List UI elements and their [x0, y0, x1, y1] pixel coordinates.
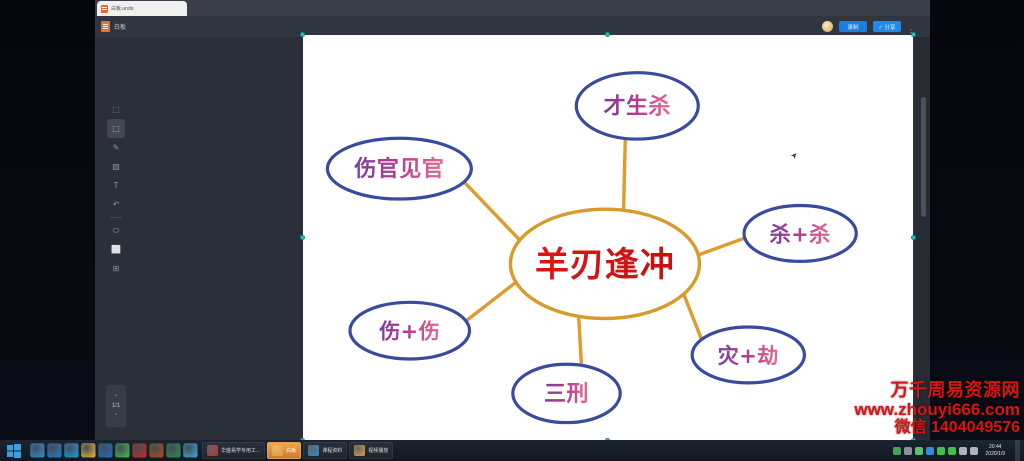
whiteboard-app-window: 白板.undo 白板 录制 ✓ 分享 ⬚ ⬚ ✎ ▧ T ↶ ⬭: [95, 0, 930, 440]
volume-icon[interactable]: [959, 447, 967, 455]
mindmap-node-5: 三刑: [513, 364, 620, 422]
avatar[interactable]: [822, 21, 833, 32]
taskbar-task-player-app[interactable]: 视频播放: [349, 442, 393, 459]
shapes-tool[interactable]: ▧: [107, 157, 125, 176]
taskbar-task-editor-app[interactable]: 白板: [267, 442, 301, 459]
edge-icon[interactable]: [47, 443, 62, 458]
mindmap-node-1: 才生杀: [576, 73, 698, 139]
scrollbar-thumb[interactable]: [921, 97, 926, 217]
mindmap-node-label: 伤+伤: [378, 320, 440, 344]
share-button[interactable]: ✓ 分享: [873, 21, 901, 32]
watermark-line-2: www.zhouyi666.com: [854, 400, 1020, 419]
record-button[interactable]: 录制: [839, 21, 867, 32]
office-icon[interactable]: [149, 443, 164, 458]
page-indicator[interactable]: ⌃ 1/1 ⌄: [106, 385, 126, 427]
network-icon[interactable]: [926, 447, 934, 455]
tray-icon-group: [893, 447, 978, 455]
task-label: 白板: [286, 447, 296, 454]
task-label: 华盛易学专用工...: [221, 447, 260, 454]
show-desktop-button[interactable]: [1015, 440, 1020, 461]
task-icon: [207, 445, 218, 456]
watermark-line-1: 万千周易资源网: [854, 380, 1020, 400]
resize-handle-top-right[interactable]: [911, 32, 916, 37]
toolbar-left-group: 白板: [95, 21, 126, 32]
image-tool[interactable]: ⊞: [107, 259, 125, 278]
page-number: 1/1: [112, 402, 120, 410]
mindmap-node-label: 灾+劫: [718, 344, 779, 368]
resize-handle-middle-left[interactable]: [300, 235, 305, 240]
document-title: 白板: [114, 22, 126, 31]
pen-tool[interactable]: ✎: [107, 138, 125, 157]
whiteboard-icon: [101, 21, 110, 32]
clock-date: 2020/1/9: [986, 451, 1005, 458]
taskbar-task-browser-app[interactable]: 课程资料: [303, 442, 347, 459]
chevron-up-icon[interactable]: [904, 447, 912, 455]
mindmap-node-label: 杀+杀: [770, 222, 831, 246]
taskbar-clock[interactable]: 20:44 2020/1/9: [982, 444, 1009, 458]
media-icon[interactable]: [166, 443, 181, 458]
mindmap-center-label: 羊刃逢冲: [535, 245, 675, 285]
folder-icon[interactable]: [81, 443, 96, 458]
pointer-tool[interactable]: ⬚: [107, 119, 125, 138]
browser-tabstrip: 白板.undo: [95, 0, 930, 16]
resize-handle-top-center[interactable]: [605, 32, 610, 37]
mindmap-node-4: 灾+劫: [692, 327, 804, 383]
select-tool[interactable]: ⬚: [107, 100, 125, 119]
save-tool[interactable]: ⬜: [107, 240, 125, 259]
phone-icon[interactable]: [937, 447, 945, 455]
watermark-line-3: 微信 1404049576: [854, 419, 1020, 437]
task-icon: [354, 445, 365, 456]
mindmap-node-label: 伤官见官: [353, 156, 444, 182]
resize-handle-top-left[interactable]: [300, 32, 305, 37]
wechat-icon[interactable]: [115, 443, 130, 458]
shield-icon[interactable]: [948, 447, 956, 455]
resize-handle-middle-right[interactable]: [911, 235, 916, 240]
mindmap-center-node: 羊刃逢冲: [510, 209, 699, 318]
windows-taskbar: 华盛易学专用工...白板课程资料视频播放 20:44 2020/1/9: [0, 440, 1024, 461]
kebab-menu-icon[interactable]: [907, 22, 916, 31]
screen: 白板.undo 白板 录制 ✓ 分享 ⬚ ⬚ ✎ ▧ T ↶ ⬭: [0, 0, 1024, 461]
text-tool[interactable]: T: [107, 176, 125, 195]
eraser-tool[interactable]: ⬭: [107, 221, 125, 240]
page-down-icon[interactable]: ⌄: [113, 411, 118, 417]
undo-tool[interactable]: ↶: [107, 195, 125, 214]
task-icon: [272, 445, 283, 456]
battery-icon[interactable]: [915, 447, 923, 455]
toolbar-right-group: 录制 ✓ 分享: [822, 21, 930, 32]
watermark: 万千周易资源网 www.zhouyi666.com 微信 1404049576: [854, 380, 1020, 437]
mindmap-node-label: 才生杀: [604, 93, 672, 119]
mindmap-node-6: 伤+伤: [350, 302, 470, 359]
tab-title: 白板.undo: [111, 5, 134, 12]
mindmap-diagram: 羊刃逢冲 才生杀伤官见官杀+杀灾+劫三刑伤+伤: [303, 35, 913, 440]
recording-icon[interactable]: [132, 443, 147, 458]
windows-start-icon[interactable]: [0, 440, 28, 461]
globe-icon[interactable]: [30, 443, 45, 458]
kugou-icon[interactable]: [98, 443, 113, 458]
taskbar-task-buttons: 华盛易学专用工...白板课程资料视频播放: [202, 442, 393, 459]
ie-icon[interactable]: [64, 443, 79, 458]
canvas-selection[interactable]: 羊刃逢冲 才生杀伤官见官杀+杀灾+劫三刑伤+伤: [303, 35, 913, 440]
action-icon[interactable]: [970, 447, 978, 455]
whiteboard-canvas[interactable]: 羊刃逢冲 才生杀伤官见官杀+杀灾+劫三刑伤+伤: [303, 35, 913, 440]
mindmap-node-2: 伤官见官: [327, 138, 471, 199]
task-icon: [308, 445, 319, 456]
qq-icon[interactable]: [183, 443, 198, 458]
taskbar-quick-launch: [28, 443, 198, 458]
mindmap-node-3: 杀+杀: [744, 206, 856, 262]
mindmap-node-label: 三刑: [544, 382, 589, 407]
app-toolbar: 白板 录制 ✓ 分享: [95, 16, 930, 37]
page-up-icon[interactable]: ⌃: [113, 395, 118, 401]
document-icon: [101, 5, 108, 13]
tool-rail: ⬚ ⬚ ✎ ▧ T ↶ ⬭ ⬜ ⊞: [105, 100, 127, 278]
task-label: 课程资料: [322, 447, 342, 454]
screenshot-icon[interactable]: [893, 447, 901, 455]
task-label: 视频播放: [368, 447, 388, 454]
tool-divider: [110, 217, 122, 218]
clock-time: 20:44: [986, 444, 1005, 451]
taskbar-task-taiji-app[interactable]: 华盛易学专用工...: [202, 442, 265, 459]
system-tray: 20:44 2020/1/9: [893, 440, 1024, 461]
browser-tab[interactable]: 白板.undo: [97, 1, 187, 16]
